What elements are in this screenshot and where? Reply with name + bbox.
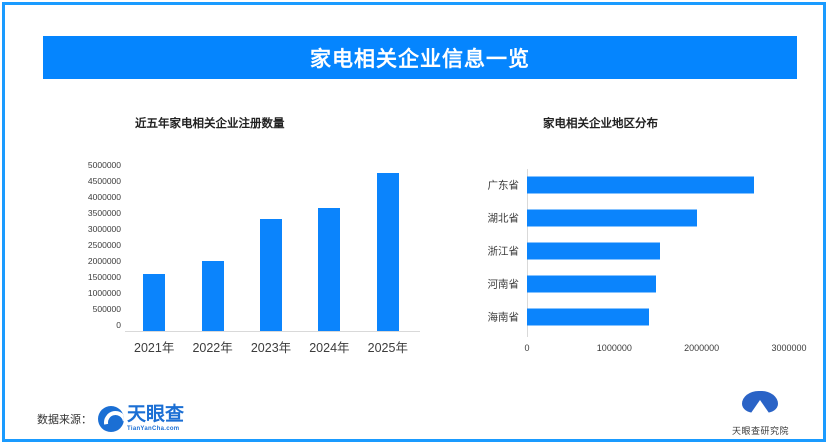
y-axis-tick: 2000000 — [88, 257, 121, 266]
y-axis-tick: 3500000 — [88, 209, 121, 218]
bar-row — [527, 308, 649, 325]
bar-column — [143, 274, 165, 331]
data-source: 数据来源： 天眼查 TianYanCha.com — [37, 405, 184, 432]
bar-plot-area — [527, 169, 789, 333]
title-banner: 家电相关企业信息一览 — [43, 36, 797, 79]
y-axis-tick: 0 — [116, 321, 121, 330]
institute-label: 天眼查研究院 — [732, 424, 789, 437]
page-title: 家电相关企业信息一览 — [310, 43, 530, 73]
infographic-page: 家电相关企业信息一览 近五年家电相关企业注册数量 050000010000001… — [2, 2, 826, 442]
tianyancha-name-en: TianYanCha.com — [127, 426, 184, 432]
y-axis-tick-labels: 0500000100000015000002000000250000030000… — [65, 157, 121, 333]
y-axis-tick: 5000000 — [88, 161, 121, 170]
x-axis-tick: 2021年 — [134, 337, 174, 356]
x-axis-tick: 1000000 — [597, 343, 632, 353]
bar-column — [377, 173, 399, 331]
bar-row — [527, 210, 697, 227]
bar-category-label: 湖北省 — [455, 211, 519, 226]
institute-logo: 天眼查研究院 — [732, 391, 789, 437]
y-axis-tick: 1500000 — [88, 273, 121, 282]
y-axis-tick: 4000000 — [88, 193, 121, 202]
tianyancha-name-cn: 天眼查 — [127, 405, 184, 424]
x-axis-tick: 3000000 — [771, 343, 806, 353]
chart-title-regions: 家电相关企业地区分布 — [543, 115, 658, 131]
bar-row — [527, 243, 660, 260]
bar-category-label: 广东省 — [455, 178, 519, 193]
column-plot-area — [125, 163, 417, 331]
tianyancha-wordmark: 天眼查 TianYanCha.com — [127, 405, 184, 432]
chart-title-registrations: 近五年家电相关企业注册数量 — [135, 115, 285, 131]
x-axis-tick: 2000000 — [684, 343, 719, 353]
bar-category-label: 浙江省 — [455, 244, 519, 259]
y-axis-tick: 1000000 — [88, 289, 121, 298]
x-axis-tick: 2024年 — [309, 337, 349, 356]
bar-column — [260, 219, 282, 331]
bar-column — [202, 261, 224, 331]
y-axis-tick: 3000000 — [88, 225, 121, 234]
chart-panel-regions: 家电相关企业地区分布 0100000020000003000000 广东省湖北省… — [455, 105, 805, 365]
bar-column — [318, 208, 340, 331]
tianyancha-eye-icon — [98, 406, 124, 432]
x-axis-tick: 2023年 — [251, 337, 291, 356]
bar-row — [527, 177, 754, 194]
x-axis-tick-labels: 0100000020000003000000 — [527, 343, 789, 363]
y-axis-tick: 4500000 — [88, 177, 121, 186]
x-axis-tick: 0 — [524, 343, 529, 353]
x-axis-line — [125, 331, 420, 332]
y-axis-tick: 2500000 — [88, 241, 121, 250]
bar-category-label: 海南省 — [455, 309, 519, 324]
x-axis-tick: 2025年 — [368, 337, 408, 356]
tianyancha-logo: 天眼查 TianYanCha.com — [98, 405, 184, 432]
x-axis-tick-labels: 2021年2022年2023年2024年2025年 — [125, 337, 417, 359]
x-axis-tick: 2022年 — [192, 337, 232, 356]
institute-mark-icon — [742, 391, 778, 421]
bar-row — [527, 275, 656, 292]
y-axis-tick: 500000 — [93, 305, 121, 314]
bar-category-label: 河南省 — [455, 276, 519, 291]
data-source-label: 数据来源： — [37, 411, 92, 427]
chart-panel-registrations: 近五年家电相关企业注册数量 05000001000000150000020000… — [65, 105, 435, 365]
